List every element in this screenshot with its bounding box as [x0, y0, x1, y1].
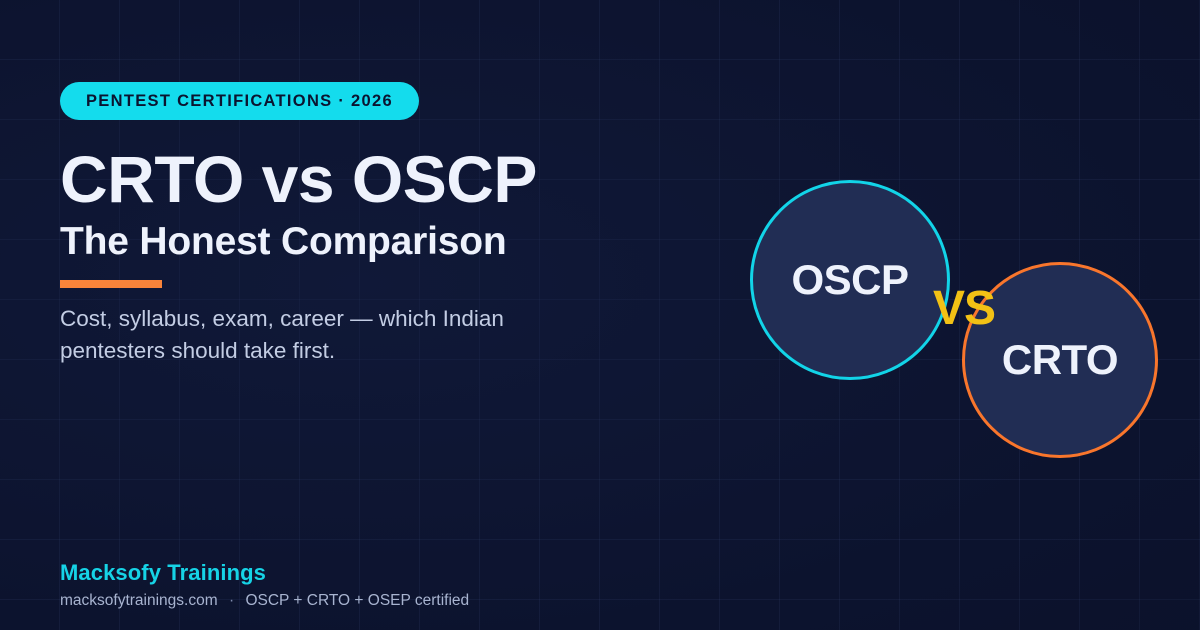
circle-oscp-label: OSCP: [791, 256, 908, 304]
brand-name: Macksofy Trainings: [60, 560, 266, 586]
circle-crto-label: CRTO: [1002, 336, 1118, 384]
category-badge: PENTEST CERTIFICATIONS · 2026: [60, 82, 419, 120]
comparison-graphic: OSCP CRTO VS: [740, 165, 1180, 475]
hero-description: Cost, syllabus, exam, career — which Ind…: [60, 303, 530, 367]
footer-meta: macksofytrainings.com · OSCP + CRTO + OS…: [60, 592, 469, 610]
versus-label: VS: [933, 285, 995, 333]
accent-divider-bar: [60, 280, 162, 288]
hero-text-column: PENTEST CERTIFICATIONS · 2026 CRTO vs OS…: [60, 0, 700, 630]
footer-separator: ·: [222, 592, 241, 609]
footer-website: macksofytrainings.com: [60, 592, 218, 609]
page-title: CRTO vs OSCP: [60, 146, 537, 212]
circle-oscp: OSCP: [750, 180, 950, 380]
footer-credentials: OSCP + CRTO + OSEP certified: [245, 592, 469, 609]
page-subtitle: The Honest Comparison: [60, 222, 507, 261]
